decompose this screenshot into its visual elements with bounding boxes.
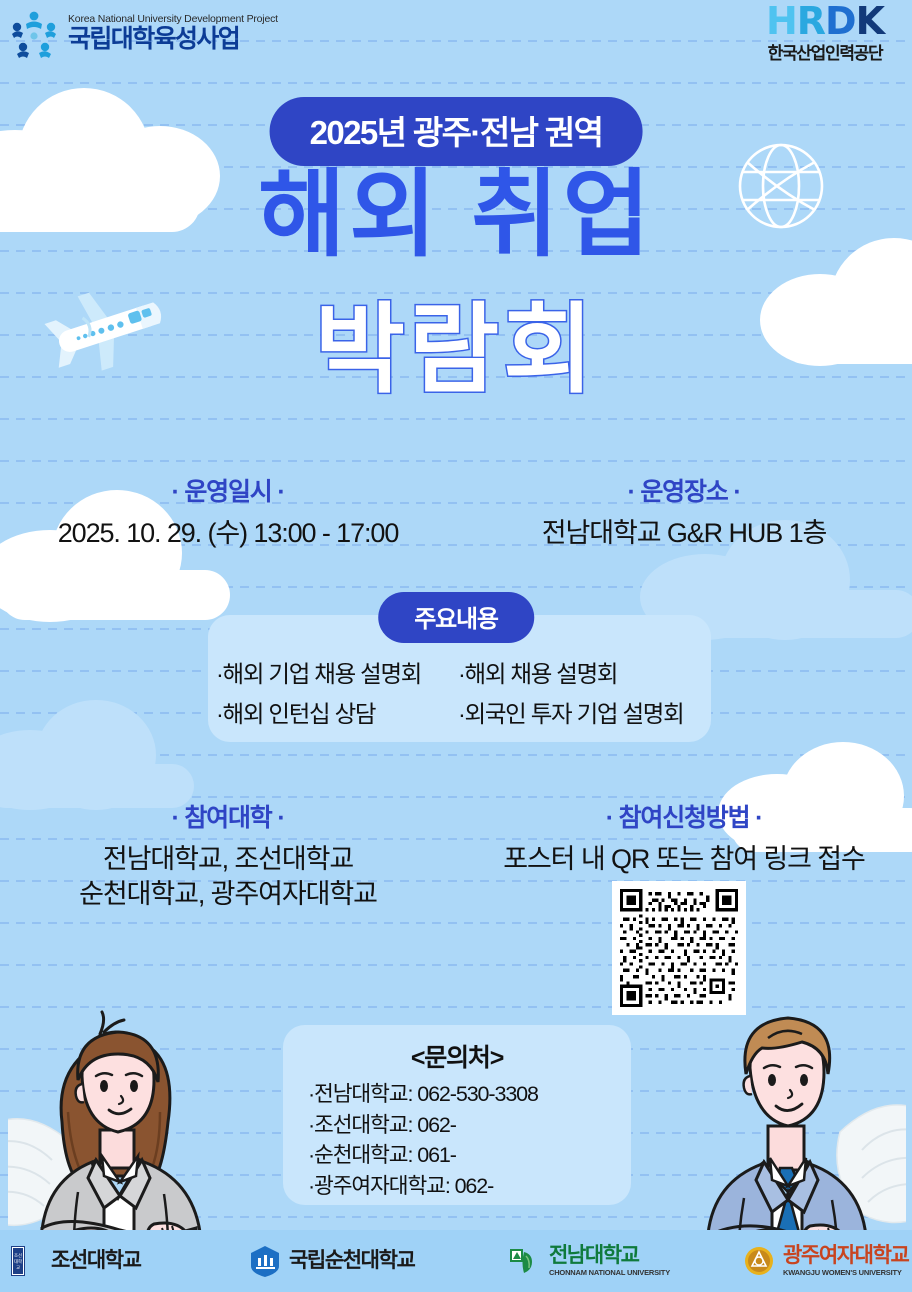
kwangju-womens-university-logo: [742, 1244, 776, 1278]
knudp-english-label: Korea National University Development Pr…: [68, 14, 278, 25]
contact-title: <문의처>: [283, 1038, 631, 1074]
footer-logo-name: 전남대학교: [549, 1245, 670, 1267]
contact-item: ·광주여자대학교: 062-: [308, 1171, 538, 1202]
svg-text:대학: 대학: [14, 1258, 22, 1265]
knudp-korean-label: 국립대학육성사업: [68, 27, 278, 52]
content-item: ·외국인 투자 기업 설명회: [458, 695, 719, 729]
footer-logo-item: 전남대학교 CHONNAM NATIONAL UNIVERSITY: [508, 1244, 670, 1278]
hrdk-logo: HRDK 한국산업인력공단: [750, 2, 900, 64]
universities-label: · 참여대학 ·: [0, 798, 456, 834]
people-circle-icon: [8, 7, 60, 59]
footer-logo-subtitle: CHONNAM NATIONAL UNIVERSITY: [549, 1268, 670, 1277]
footer-logo-item: 국립순천대학교: [248, 1244, 414, 1278]
footer-logo-name: 조선대학교: [51, 1250, 141, 1272]
schedule-place-label: · 운영장소 ·: [456, 472, 912, 508]
chonnam-university-logo: [508, 1244, 542, 1278]
chosun-university-logo: 조선 대학 교: [10, 1244, 44, 1278]
footer-logo-item: 조선 대학 교 조선대학교: [10, 1244, 141, 1278]
participation-section: · 참여대학 · 전남대학교, 조선대학교 순천대학교, 광주여자대학교 · 참…: [0, 798, 912, 912]
footer-logo-name: 국립순천대학교: [289, 1250, 414, 1272]
schedule-date-value: 2025. 10. 29. (수) 13:00 - 17:00: [0, 516, 456, 551]
footer-logo-bar: 조선 대학 교 조선대학교 국립순천대학교: [0, 1230, 912, 1292]
poster-root: Korea National University Development Pr…: [0, 0, 912, 1292]
contact-list: ·전남대학교: 062-530-3308 ·조선대학교: 062- ·순천대학교…: [308, 1079, 538, 1201]
footer-logo-subtitle: KWANGJU WOMEN'S UNIVERSITY: [783, 1268, 908, 1277]
content-item: ·해외 인턴십 상담: [216, 695, 458, 729]
apply-value: 포스터 내 QR 또는 참여 링크 접수: [456, 842, 912, 877]
content-item: ·해외 기업 채용 설명회: [216, 655, 458, 689]
cloud-icon: [0, 700, 220, 810]
universities-block: · 참여대학 · 전남대학교, 조선대학교 순천대학교, 광주여자대학교: [0, 798, 456, 912]
universities-line2: 순천대학교, 광주여자대학교: [0, 877, 456, 912]
year-region-badge: 2025년 광주·전남 권역: [270, 97, 643, 166]
footer-logo-name: 광주여자대학교: [783, 1245, 908, 1267]
knudp-logo: Korea National University Development Pr…: [8, 4, 298, 62]
schedule-place-block: · 운영장소 · 전남대학교 G&R HUB 1층: [456, 472, 912, 551]
schedule-section: · 운영일시 · 2025. 10. 29. (수) 13:00 - 17:00…: [0, 472, 912, 551]
contact-item: ·순천대학교: 061-: [308, 1140, 538, 1171]
schedule-date-block: · 운영일시 · 2025. 10. 29. (수) 13:00 - 17:00: [0, 472, 456, 551]
schedule-date-label: · 운영일시 ·: [0, 472, 456, 508]
footer-logo-item: 광주여자대학교 KWANGJU WOMEN'S UNIVERSITY: [742, 1244, 908, 1278]
content-item: ·해외 채용 설명회: [458, 655, 719, 689]
apply-label: · 참여신청방법 ·: [456, 798, 912, 834]
main-content-badge: 주요내용: [378, 592, 534, 643]
universities-line1: 전남대학교, 조선대학교: [0, 842, 456, 877]
contact-item: ·조선대학교: 062-: [308, 1110, 538, 1141]
sunchon-university-logo: [248, 1244, 282, 1278]
svg-text:조선: 조선: [14, 1252, 22, 1258]
contact-item: ·전남대학교: 062-530-3308: [308, 1079, 538, 1110]
poster-title-line2: 박람회: [0, 300, 912, 398]
svg-text:교: 교: [16, 1265, 20, 1270]
hrdk-korean-label: 한국산업인력공단: [750, 39, 900, 64]
poster-title-line1: 해외 취업: [0, 168, 912, 263]
hrdk-wordmark: HRDK: [750, 2, 900, 40]
schedule-place-value: 전남대학교 G&R HUB 1층: [456, 516, 912, 551]
main-content-items: ·해외 기업 채용 설명회 ·해외 채용 설명회 ·해외 인턴십 상담 ·외국인…: [208, 655, 711, 729]
